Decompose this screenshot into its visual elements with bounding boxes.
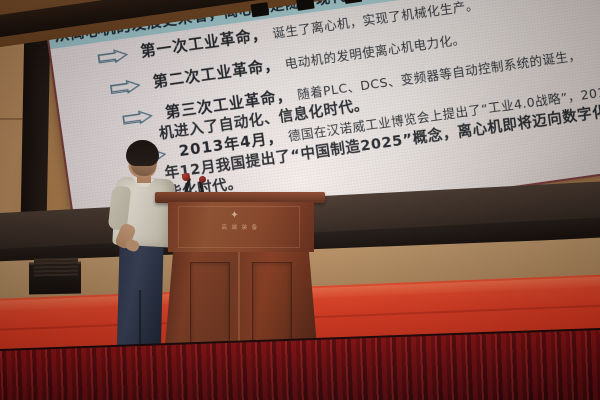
podium-recessed-panel — [252, 262, 292, 350]
podium-recessed-panel — [190, 262, 230, 350]
podium-corner-edge — [238, 252, 240, 352]
presentation-photo: 一、离心机的定义、分类与发展 从离心机的发展史来看，离心机是随着现代工业的不断进… — [0, 0, 600, 400]
speaker-hair — [126, 140, 159, 166]
podium-logo-icon: ✦ — [230, 210, 239, 221]
podium-logo-text: 高 端 装 备 — [194, 223, 286, 231]
microphone-head — [182, 173, 190, 181]
microphone-head — [199, 176, 206, 183]
wall-vent-grill — [34, 258, 78, 277]
